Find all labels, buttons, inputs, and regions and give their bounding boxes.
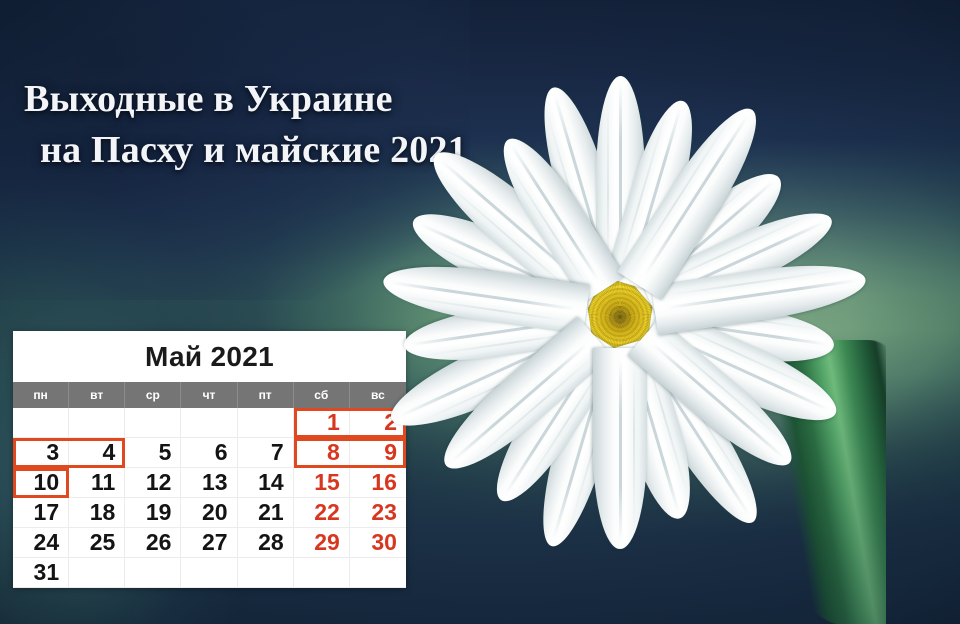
calendar-empty-cell (125, 558, 181, 588)
calendar-day-4[interactable]: 4 (69, 438, 125, 468)
calendar-empty-cell (238, 558, 294, 588)
calendar-day-28[interactable]: 28 (238, 528, 294, 558)
calendar-empty-cell (238, 408, 294, 438)
calendar-day-1[interactable]: 1 (294, 408, 350, 438)
calendar-weekday-пт: пт (238, 382, 294, 408)
calendar-day-9[interactable]: 9 (350, 438, 406, 468)
calendar-weekday-чт: чт (181, 382, 237, 408)
calendar-weekday-вт: вт (69, 382, 125, 408)
calendar-empty-cell (350, 558, 406, 588)
calendar-day-3[interactable]: 3 (13, 438, 69, 468)
calendar-empty-cell (69, 558, 125, 588)
calendar-empty-cell (69, 408, 125, 438)
calendar-day-26[interactable]: 26 (125, 528, 181, 558)
calendar-day-16[interactable]: 16 (350, 468, 406, 498)
title-line-1: Выходные в Украине (24, 78, 393, 120)
calendar-day-19[interactable]: 19 (125, 498, 181, 528)
calendar-weekday-пн: пн (13, 382, 69, 408)
calendar-day-24[interactable]: 24 (13, 528, 69, 558)
calendar-empty-cell (13, 408, 69, 438)
calendar-month-title: Май 2021 (13, 331, 406, 382)
calendar-day-15[interactable]: 15 (294, 468, 350, 498)
calendar-empty-cell (181, 408, 237, 438)
calendar-day-30[interactable]: 30 (350, 528, 406, 558)
calendar-day-8[interactable]: 8 (294, 438, 350, 468)
calendar-weekday-ср: ср (125, 382, 181, 408)
calendar-day-27[interactable]: 27 (181, 528, 237, 558)
calendar-day-22[interactable]: 22 (294, 498, 350, 528)
calendar-day-29[interactable]: 29 (294, 528, 350, 558)
calendar-day-11[interactable]: 11 (69, 468, 125, 498)
calendar-day-10[interactable]: 10 (13, 468, 69, 498)
calendar-day-7[interactable]: 7 (238, 438, 294, 468)
calendar-day-5[interactable]: 5 (125, 438, 181, 468)
calendar-day-31[interactable]: 31 (13, 558, 69, 588)
calendar-day-23[interactable]: 23 (350, 498, 406, 528)
calendar-day-13[interactable]: 13 (181, 468, 237, 498)
calendar-day-6[interactable]: 6 (181, 438, 237, 468)
calendar-day-17[interactable]: 17 (13, 498, 69, 528)
poster-canvas: Выходные в Украине на Пасху и майские 20… (0, 0, 960, 624)
calendar-weekday-сб: сб (294, 382, 350, 408)
calendar-widget[interactable]: Май 2021 пнвтсрчтптсбвс 1234567891011121… (13, 331, 406, 588)
calendar-empty-cell (125, 408, 181, 438)
calendar-day-grid[interactable]: 1234567891011121314151617181920212223242… (13, 408, 406, 588)
calendar-day-21[interactable]: 21 (238, 498, 294, 528)
calendar-empty-cell (181, 558, 237, 588)
calendar-day-12[interactable]: 12 (125, 468, 181, 498)
calendar-day-25[interactable]: 25 (69, 528, 125, 558)
calendar-empty-cell (294, 558, 350, 588)
calendar-day-18[interactable]: 18 (69, 498, 125, 528)
calendar-day-20[interactable]: 20 (181, 498, 237, 528)
calendar-day-14[interactable]: 14 (238, 468, 294, 498)
calendar-weekday-header: пнвтсрчтптсбвс (13, 382, 406, 408)
